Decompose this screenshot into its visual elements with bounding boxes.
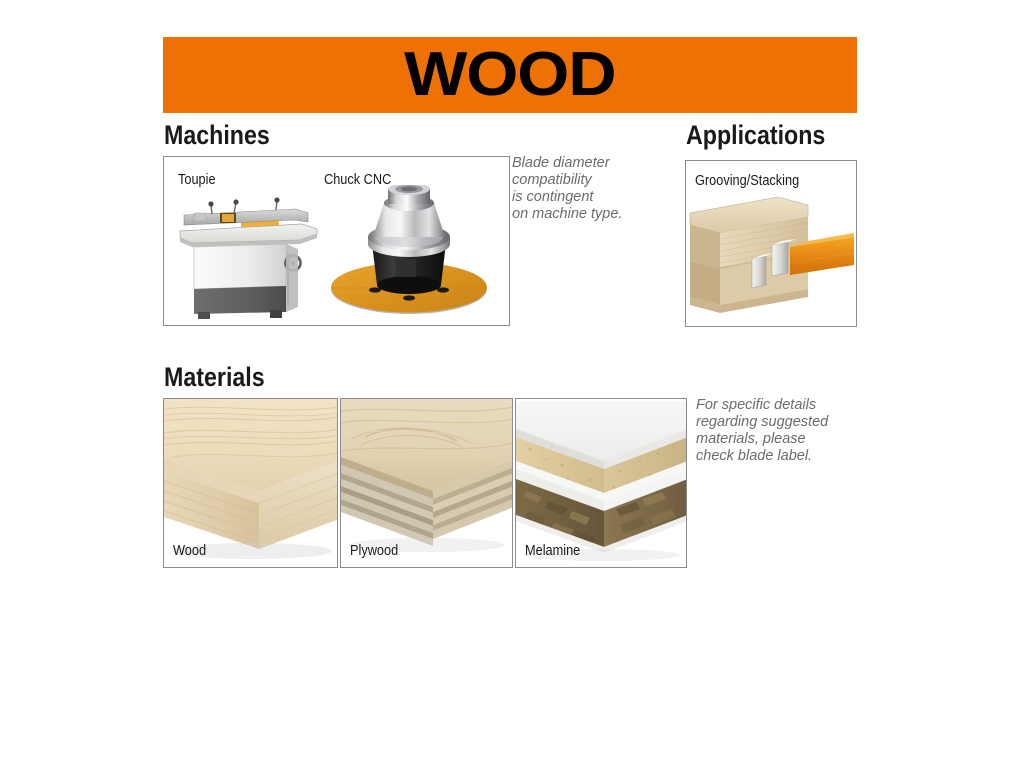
- machines-section-heading: Machines: [164, 120, 270, 151]
- header-banner: WOOD: [163, 37, 857, 113]
- application-label-grooving-stacking: Grooving/Stacking: [695, 172, 799, 189]
- machine-label-toupie: Toupie: [178, 171, 216, 188]
- material-panel-plywood: Plywood: [340, 398, 513, 568]
- material-label-wood: Wood: [173, 542, 206, 559]
- machines-note: Blade diameter compatibility is continge…: [512, 155, 677, 223]
- machines-panel: Toupie Chuck CNC: [163, 156, 510, 326]
- material-label-melamine: Melamine: [525, 542, 580, 559]
- cnc-chuck-with-saw-blade-image: [314, 185, 504, 321]
- applications-section-heading: Applications: [686, 120, 825, 151]
- material-label-plywood: Plywood: [350, 542, 398, 559]
- material-panel-wood: Wood: [163, 398, 338, 568]
- material-panel-melamine: Melamine: [515, 398, 687, 568]
- applications-panel: Grooving/Stacking: [685, 160, 857, 327]
- page-title: WOOD: [404, 44, 615, 106]
- materials-section-heading: Materials: [164, 362, 265, 393]
- spindle-moulder-machine-image: [176, 193, 321, 321]
- machine-label-chuck-cnc: Chuck CNC: [324, 171, 391, 188]
- materials-note: For specific details regarding suggested…: [696, 397, 871, 465]
- grooved-wood-joint-image: [686, 193, 857, 313]
